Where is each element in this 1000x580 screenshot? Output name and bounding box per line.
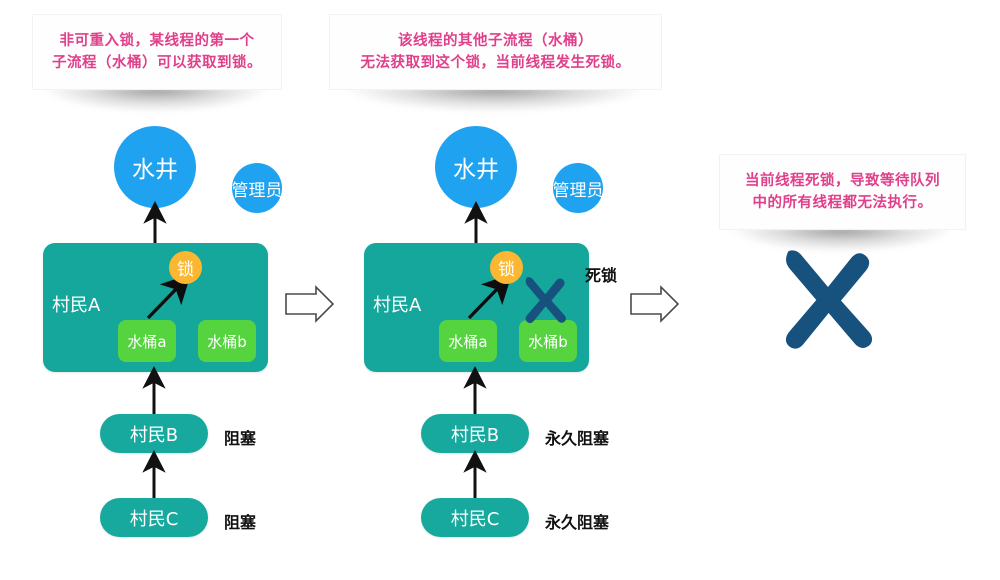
panel-2-queue-item-1: 村民C [421,498,529,537]
panel-2-deadlock-label: 死锁 [585,262,617,286]
flow-arrow-2 [631,287,678,321]
panel-2-queue-item-0-state: 永久阻塞 [545,425,609,449]
note-step3-shadow [717,228,966,254]
note-step1-shadow [30,88,282,114]
diagram-canvas: 非可重入锁，某线程的第一个 子流程（水桶）可以获取到锁。 该线程的其他子流程（水… [0,0,1000,580]
panel-1-bucket-a-label: 水桶a [127,331,166,352]
panel-2-admin-label: 管理员 [553,176,604,201]
note-step3-line-1: 当前线程死锁，导致等待队列 [745,170,940,192]
panel-2-bucket-b-label: 水桶b [528,331,568,352]
panel-2-queue-item-1-state: 永久阻塞 [545,509,609,533]
panel-1-queue-item-1: 村民C [100,498,208,537]
note-step3-line-2: 中的所有线程都无法执行。 [745,192,940,214]
panel-2-lock-circle: 锁 [490,251,523,284]
note-step2-line-2: 无法获取到这个锁，当前线程发生死锁。 [361,52,631,74]
panel-1-well-label: 水井 [132,150,178,184]
panel-1-well-circle: 水井 [114,126,196,208]
panel-1-queue-item-0-label: 村民B [130,421,178,447]
cross-mark-icon [786,250,872,348]
panel-1-bucket-a: 水桶a [118,320,176,362]
note-step1-line-1: 非可重入锁，某线程的第一个 [52,30,262,52]
panel-1-admin-circle: 管理员 [232,163,282,213]
panel-2-well-circle: 水井 [435,126,517,208]
panel-1-lock-label: 锁 [177,255,194,280]
panel-2-queue-item-1-label: 村民C [451,505,500,531]
note-step2-shadow [327,88,662,114]
panel-2-bucket-a-label: 水桶a [448,331,487,352]
panel-1-lock-circle: 锁 [169,251,202,284]
panel-2-bucket-b: 水桶b [519,320,577,362]
note-step2: 该线程的其他子流程（水桶） 无法获取到这个锁，当前线程发生死锁。 [329,14,662,90]
panel-2-queue-item-0: 村民B [421,414,529,453]
panel-2-lock-label: 锁 [498,255,515,280]
panel-1-bucket-b-label: 水桶b [207,331,247,352]
panel-2-bucket-a: 水桶a [439,320,497,362]
panel-1-queue-item-1-state: 阻塞 [224,509,256,533]
panel-2-admin-circle: 管理员 [553,163,603,213]
panel-2-queue-item-0-label: 村民B [451,421,499,447]
panel-1-queue-item-0-state: 阻塞 [224,425,256,449]
note-step1: 非可重入锁，某线程的第一个 子流程（水桶）可以获取到锁。 [32,14,282,90]
panel-1-bucket-b: 水桶b [198,320,256,362]
panel-1-queue-item-0: 村民B [100,414,208,453]
panel-2-thread-label: 村民A [373,291,421,317]
note-step1-line-2: 子流程（水桶）可以获取到锁。 [52,52,262,74]
panel-1-queue-item-1-label: 村民C [130,505,179,531]
panel-1-admin-label: 管理员 [232,176,283,201]
flow-arrow-1 [286,287,333,321]
panel-2-well-label: 水井 [453,150,499,184]
note-step2-line-1: 该线程的其他子流程（水桶） [361,30,631,52]
note-step3: 当前线程死锁，导致等待队列 中的所有线程都无法执行。 [719,154,966,230]
panel-1-thread-label: 村民A [52,291,100,317]
